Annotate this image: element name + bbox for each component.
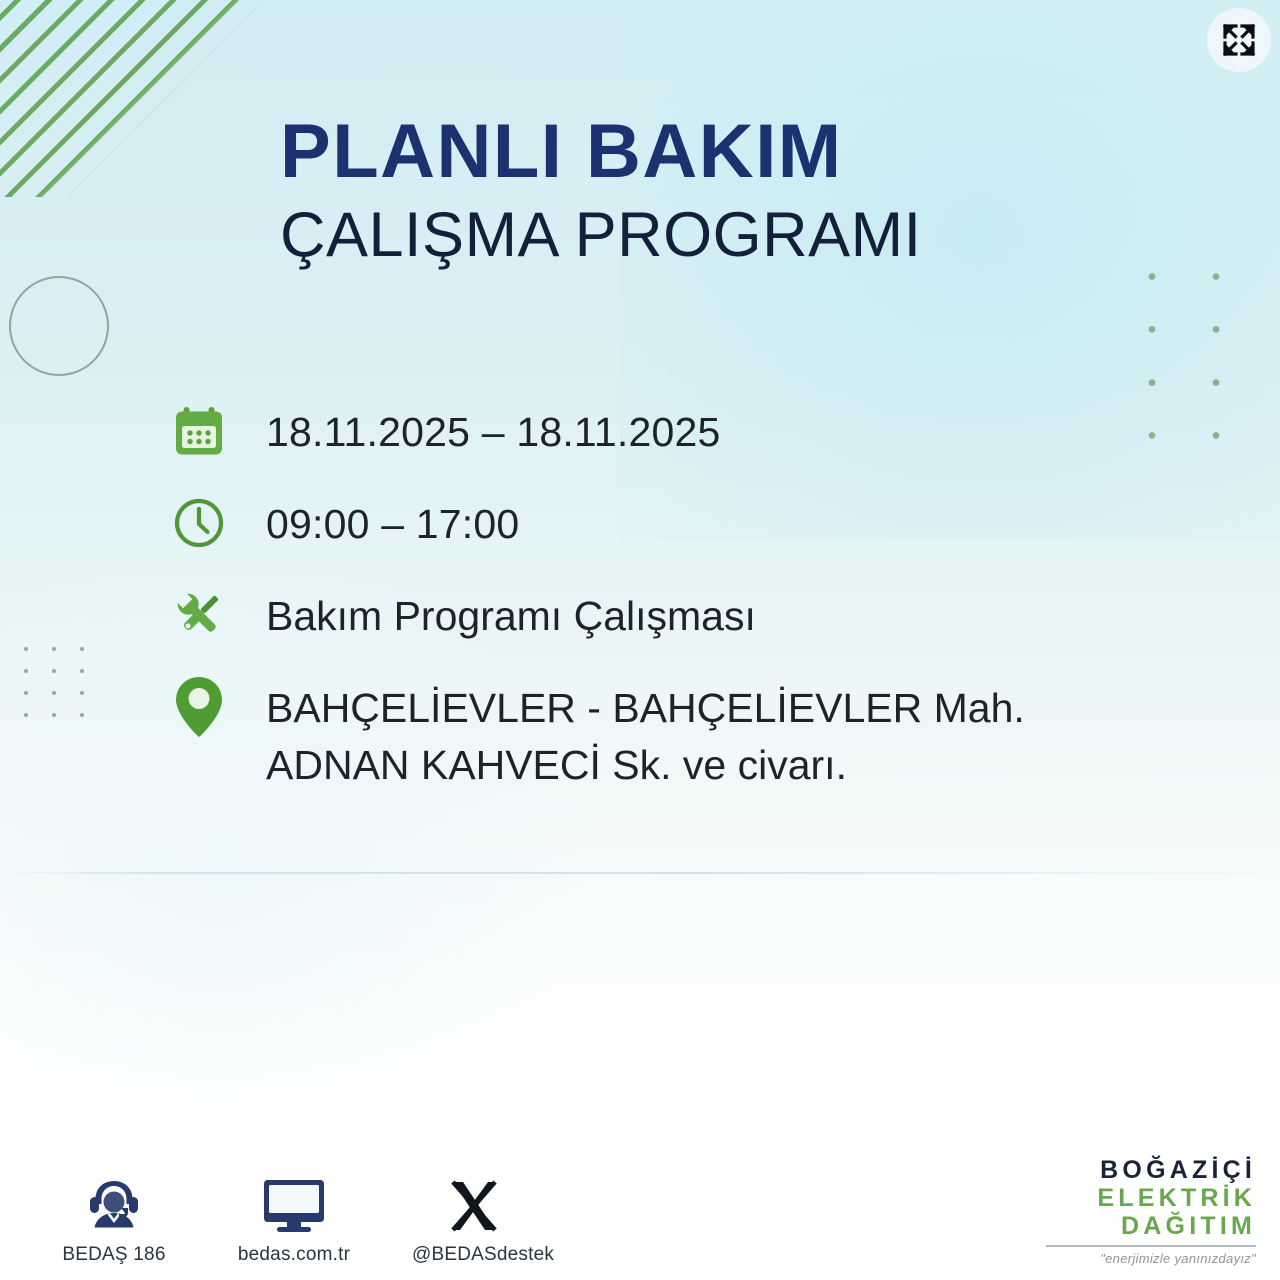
contact-phone[interactable]: BEDAŞ 186 xyxy=(52,1163,176,1266)
contact-label-twitter-x: @BEDASdestek xyxy=(412,1244,536,1266)
contact-channels: BEDAŞ 186 bedas.com.tr xyxy=(52,1163,536,1266)
detail-value-date: 18.11.2025 – 18.11.2025 xyxy=(266,398,721,461)
contact-label-website: bedas.com.tr xyxy=(232,1244,356,1266)
diagonal-stripes-decoration xyxy=(0,0,260,197)
poster-heading: PLANLI BAKIM ÇALIŞMA PROGRAMI xyxy=(280,116,1040,267)
page-subtitle: ÇALIŞMA PROGRAMI xyxy=(280,203,1040,267)
planned-maintenance-poster: PLANLI BAKIM ÇALIŞMA PROGRAMI 18.11.2025… xyxy=(0,0,1280,1280)
monitor-icon xyxy=(232,1163,356,1235)
brand-line-bogazici: BOĞAZİÇİ xyxy=(1046,1156,1256,1184)
brand-tagline: "enerjimizle yanınızdayız" xyxy=(1046,1251,1256,1266)
expand-icon xyxy=(1219,20,1259,60)
detail-row-location: BAHÇELİEVLER - BAHÇELİEVLER Mah. ADNAN K… xyxy=(166,674,1166,793)
x-social-icon xyxy=(412,1163,536,1235)
contact-website[interactable]: bedas.com.tr xyxy=(232,1163,356,1266)
headset-operator-icon xyxy=(52,1163,176,1235)
detail-row-date: 18.11.2025 – 18.11.2025 xyxy=(166,398,1166,468)
location-pin-icon xyxy=(166,674,232,740)
bedas-logo: BOĞAZİÇİ ELEKTRİK DAĞITIM "enerjimizle y… xyxy=(1046,1156,1256,1266)
detail-value-time: 09:00 – 17:00 xyxy=(266,490,519,553)
clock-icon xyxy=(166,490,232,556)
detail-value-work-type: Bakım Programı Çalışması xyxy=(266,582,756,645)
dot-grid-decoration-left xyxy=(12,638,102,728)
brand-line-elektrik: ELEKTRİK xyxy=(1046,1184,1256,1212)
page-title: PLANLI BAKIM xyxy=(280,116,1040,189)
fullscreen-button[interactable] xyxy=(1207,8,1271,72)
tools-icon xyxy=(166,582,232,648)
detail-row-work-type: Bakım Programı Çalışması xyxy=(166,582,1166,652)
circle-outline-decoration xyxy=(9,276,109,376)
detail-row-time: 09:00 – 17:00 xyxy=(166,490,1166,560)
section-divider-line xyxy=(0,872,1280,874)
poster-footer: BEDAŞ 186 bedas.com.tr xyxy=(0,1080,1280,1280)
contact-label-phone: BEDAŞ 186 xyxy=(52,1244,176,1266)
calendar-icon xyxy=(166,398,232,464)
brand-divider xyxy=(1046,1245,1256,1247)
contact-twitter-x[interactable]: @BEDASdestek xyxy=(412,1163,536,1266)
brand-line-dagitim: DAĞITIM xyxy=(1046,1212,1256,1240)
detail-value-location: BAHÇELİEVLER - BAHÇELİEVLER Mah. ADNAN K… xyxy=(266,674,1146,793)
maintenance-details-list: 18.11.2025 – 18.11.2025 09:00 – 17:00 xyxy=(166,398,1166,793)
